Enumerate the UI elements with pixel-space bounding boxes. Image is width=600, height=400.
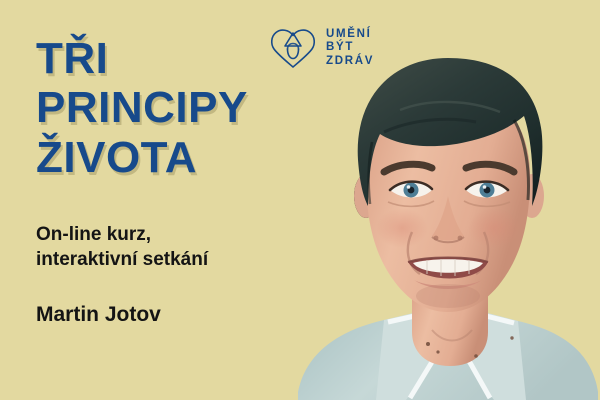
heart-mountain-icon (268, 24, 318, 72)
headline-line-3: ŽIVOTA (36, 133, 248, 182)
logo-line-2: BÝT (326, 41, 374, 55)
subtitle-line-2: interaktivní setkání (36, 247, 208, 272)
logo-line-1: UMĚNÍ (326, 28, 374, 42)
headline-line-1: TŘI (36, 34, 248, 83)
headline-line-2: PRINCIPY (36, 83, 248, 132)
presenter-name: Martin Jotov (36, 303, 161, 327)
headline: TŘI PRINCIPY ŽIVOTA (36, 34, 248, 182)
subtitle-line-1: On-line kurz, (36, 222, 208, 247)
subtitle: On-line kurz, interaktivní setkání (36, 222, 208, 273)
logo-line-3: ZDRÁV (326, 55, 374, 69)
poster-canvas: UMĚNÍ BÝT ZDRÁV TŘI PRINCIPY ŽIVOTA On-l… (0, 0, 600, 400)
brand-logo: UMĚNÍ BÝT ZDRÁV (268, 24, 374, 72)
logo-wordmark: UMĚNÍ BÝT ZDRÁV (326, 28, 374, 69)
